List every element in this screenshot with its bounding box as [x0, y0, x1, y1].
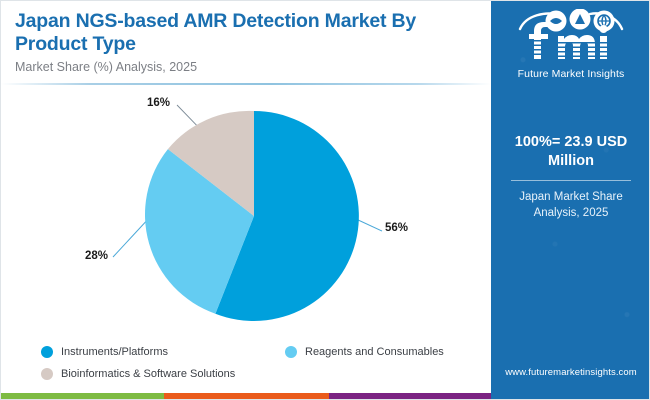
legend-item-reagents-consumables[interactable]: Reagents and Consumables — [285, 346, 444, 358]
pie-chart: 56% 28% 16% — [1, 85, 491, 333]
fmi-logo-icon — [504, 9, 638, 67]
bar-segment-orange — [164, 393, 329, 400]
legend-row: Bioinformatics & Software Solutions — [41, 368, 481, 390]
market-scope-caption: Japan Market Share Analysis, 2025 — [501, 189, 641, 221]
pie-value-label-56: 56% — [385, 222, 408, 234]
legend-label: Bioinformatics & Software Solutions — [61, 368, 235, 380]
legend: Instruments/Platforms Reagents and Consu… — [41, 346, 481, 390]
bar-segment-blue — [491, 393, 650, 400]
header: Japan NGS-based AMR Detection Market By … — [1, 1, 491, 83]
stat-block: 100%= 23.9 USD Million Japan Market Shar… — [501, 133, 641, 221]
stat-divider — [511, 180, 631, 181]
side-panel: Future Market Insights 100%= 23.9 USD Mi… — [491, 1, 650, 393]
page-title: Japan NGS-based AMR Detection Market By … — [15, 10, 477, 56]
bar-segment-purple — [329, 393, 491, 400]
fmi-logo[interactable]: Future Market Insights — [491, 9, 650, 80]
pie-chart-svg — [1, 85, 491, 333]
legend-label: Reagents and Consumables — [305, 346, 444, 358]
bottom-color-bar — [1, 393, 650, 400]
infographic-canvas: Japan NGS-based AMR Detection Market By … — [0, 0, 650, 400]
legend-row: Instruments/Platforms Reagents and Consu… — [41, 346, 481, 368]
leader-line-56 — [356, 219, 382, 231]
page-subtitle: Market Share (%) Analysis, 2025 — [15, 60, 477, 75]
chart-panel: Japan NGS-based AMR Detection Market By … — [1, 1, 491, 393]
website-url[interactable]: www.futuremarketinsights.com — [491, 367, 650, 378]
pie-value-label-28: 28% — [85, 250, 108, 262]
legend-swatch-icon — [285, 346, 297, 358]
pie-value-label-16: 16% — [147, 97, 170, 109]
legend-label: Instruments/Platforms — [61, 346, 168, 358]
legend-item-instruments-platforms[interactable]: Instruments/Platforms — [41, 346, 168, 358]
legend-swatch-icon — [41, 346, 53, 358]
market-size-value: 100%= 23.9 USD Million — [501, 133, 641, 171]
legend-swatch-icon — [41, 368, 53, 380]
legend-item-bioinformatics-software[interactable]: Bioinformatics & Software Solutions — [41, 368, 235, 380]
bar-segment-green — [1, 393, 164, 400]
fmi-logo-tagline: Future Market Insights — [491, 68, 650, 80]
